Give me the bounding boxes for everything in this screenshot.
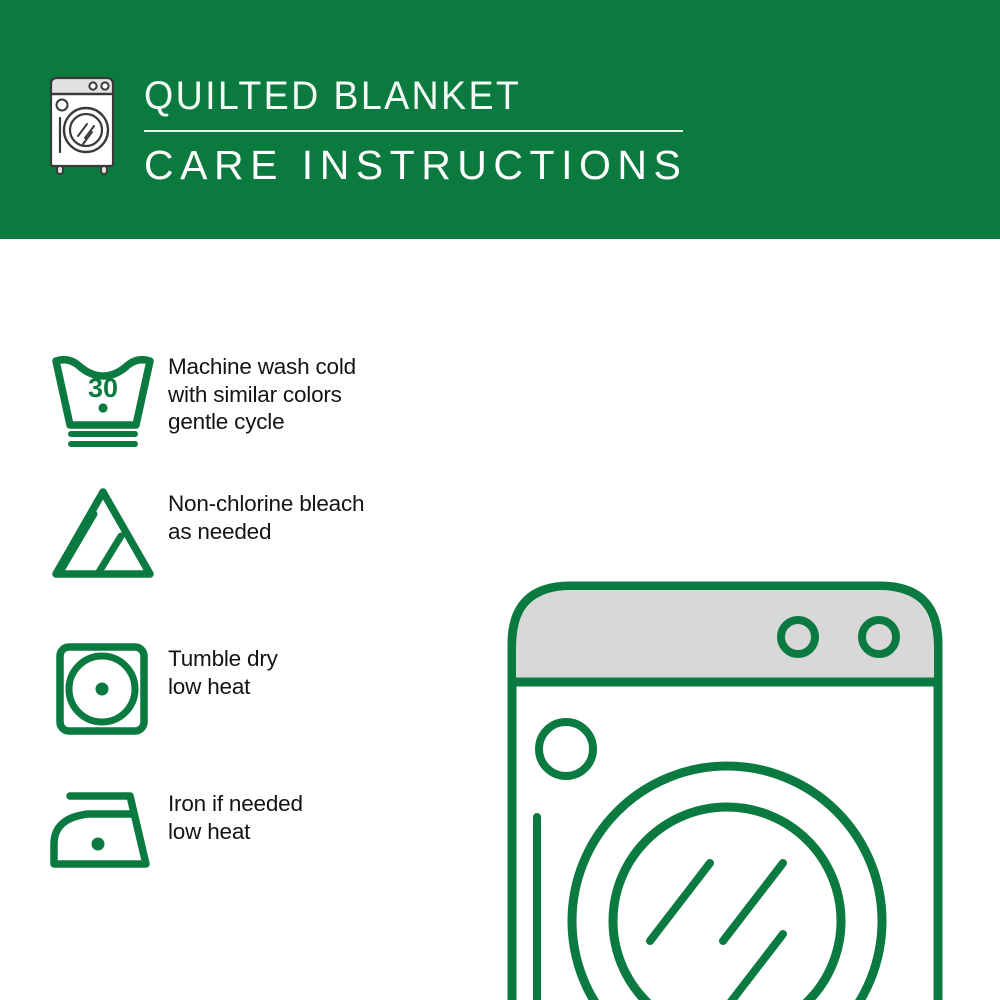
care-text-line: Machine wash cold bbox=[168, 353, 478, 381]
care-symbol-list: 30 Machine wash cold with similar colors… bbox=[0, 239, 480, 1000]
care-text-line: Iron if needed bbox=[168, 790, 478, 818]
machine-wash-30-gentle-symbol: 30 bbox=[48, 347, 168, 447]
gentle-bar-2 bbox=[68, 441, 138, 447]
care-item-dry-text: Tumble dry low heat bbox=[168, 639, 478, 700]
care-text-line: with similar colors bbox=[168, 381, 478, 409]
care-item-bleach: Non-chlorine bleach as needed bbox=[48, 484, 478, 580]
header-title-block: QUILTED BLANKET CARE INSTRUCTIONS bbox=[144, 72, 744, 190]
care-text-line: as needed bbox=[168, 518, 478, 546]
care-item-iron-text: Iron if needed low heat bbox=[168, 784, 478, 845]
dry-heat-dot bbox=[96, 683, 109, 696]
care-text-line: Tumble dry bbox=[168, 645, 478, 673]
care-item-dry: Tumble dry low heat bbox=[48, 639, 478, 739]
care-item-iron: Iron if needed low heat bbox=[48, 784, 478, 874]
care-item-wash-text: Machine wash cold with similar colors ge… bbox=[168, 347, 478, 436]
care-text-line: low heat bbox=[168, 818, 478, 846]
non-chlorine-bleach-triangle-symbol bbox=[48, 484, 168, 580]
iron-low-heat-symbol bbox=[48, 784, 168, 874]
bleach-stripe-2 bbox=[99, 536, 121, 572]
washing-machine-icon bbox=[45, 68, 125, 176]
care-text-line: Non-chlorine bleach bbox=[168, 490, 478, 518]
gentle-bar-1 bbox=[68, 431, 138, 437]
page-title: QUILTED BLANKET bbox=[144, 72, 708, 120]
care-item-wash: 30 Machine wash cold with similar colors… bbox=[48, 347, 478, 447]
page-subtitle: CARE INSTRUCTIONS bbox=[144, 140, 744, 190]
wash-temperature-label: 30 bbox=[88, 373, 118, 403]
header-banner: QUILTED BLANKET CARE INSTRUCTIONS bbox=[0, 0, 1000, 239]
washing-machine-illustration bbox=[495, 569, 955, 1000]
gentle-dot bbox=[98, 403, 107, 412]
care-text-line: gentle cycle bbox=[168, 408, 478, 436]
title-divider bbox=[144, 130, 683, 132]
tumble-dry-low-heat-symbol bbox=[48, 639, 168, 739]
care-text-line: low heat bbox=[168, 673, 478, 701]
care-item-bleach-text: Non-chlorine bleach as needed bbox=[168, 484, 478, 545]
bleach-stripe-1 bbox=[60, 514, 94, 572]
content-area: 30 Machine wash cold with similar colors… bbox=[0, 239, 1000, 1000]
control-panel bbox=[516, 590, 934, 682]
iron-heat-dot bbox=[92, 838, 105, 851]
care-instructions-infographic: QUILTED BLANKET CARE INSTRUCTIONS 30 bbox=[0, 0, 1000, 1000]
